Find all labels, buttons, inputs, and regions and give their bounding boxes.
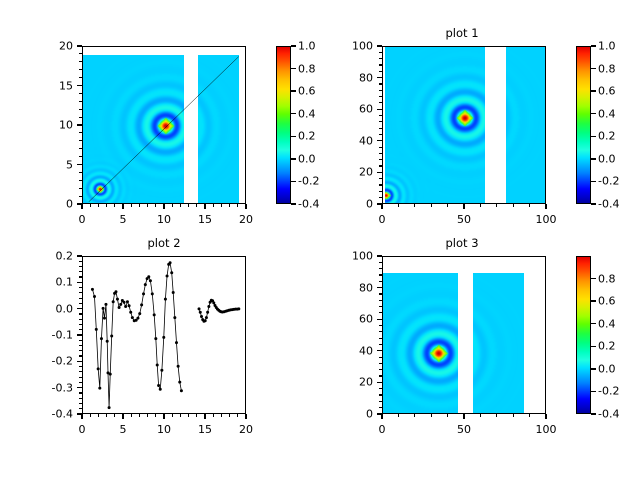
data-point-marker	[170, 271, 173, 274]
axes-data-area-top-right	[383, 47, 545, 203]
colorbar-tick	[291, 45, 296, 46]
x-tick-label: 15	[198, 424, 212, 435]
y-minor-tick	[79, 109, 82, 110]
colorbar-tick-label: 0.0	[598, 363, 616, 374]
x-minor-tick	[513, 204, 514, 207]
y-minor-tick	[379, 147, 382, 148]
data-point-marker	[198, 307, 201, 310]
y-major-tick	[377, 350, 382, 351]
y-minor-tick	[79, 313, 82, 314]
y-tick-label: 40	[359, 345, 373, 356]
y-major-tick	[377, 255, 382, 256]
y-minor-tick	[79, 366, 82, 367]
x-minor-tick	[180, 204, 181, 207]
y-minor-tick	[79, 329, 82, 330]
data-point-marker	[128, 304, 131, 307]
data-point-marker	[98, 387, 101, 390]
data-point-marker	[173, 316, 176, 319]
y-minor-tick	[379, 184, 382, 185]
axes-frame-top-right	[382, 46, 546, 204]
line-path	[92, 263, 181, 408]
colorbar-bottom-right	[576, 256, 591, 414]
y-tick-label: 20	[359, 167, 373, 178]
data-point-marker	[144, 283, 147, 286]
colorbar-tick	[291, 90, 296, 91]
colorbar-tick	[591, 413, 596, 414]
x-tick-label: 20	[239, 424, 253, 435]
colorbar-tick	[591, 300, 596, 301]
x-tick-label: 10	[157, 424, 171, 435]
colorbar-tick	[591, 90, 596, 91]
y-major-tick	[377, 109, 382, 110]
x-major-tick	[381, 204, 382, 209]
colorbar-tick	[591, 136, 596, 137]
y-major-tick	[77, 308, 82, 309]
y-minor-tick	[379, 388, 382, 389]
axes-frame-bottom-left	[82, 256, 246, 414]
heatmap-image-panel	[385, 47, 485, 203]
x-minor-tick	[414, 204, 415, 207]
y-minor-tick	[79, 61, 82, 62]
x-minor-tick	[106, 204, 107, 207]
data-point-marker	[160, 369, 163, 372]
y-minor-tick	[379, 197, 382, 198]
y-minor-tick	[79, 117, 82, 118]
y-minor-tick	[379, 90, 382, 91]
data-point-marker	[93, 295, 96, 298]
x-major-tick	[463, 204, 464, 209]
y-major-tick	[77, 413, 82, 414]
data-point-marker	[131, 316, 134, 319]
colorbar-tick-label: 0.6	[598, 296, 616, 307]
x-minor-tick	[98, 204, 99, 207]
y-tick-label: -0.4	[52, 409, 73, 420]
y-minor-tick	[379, 344, 382, 345]
y-minor-tick	[79, 77, 82, 78]
y-minor-tick	[379, 159, 382, 160]
colorbar-tick-label: -0.2	[298, 176, 319, 187]
y-minor-tick	[379, 394, 382, 395]
y-minor-tick	[79, 303, 82, 304]
y-tick-label: 60	[359, 104, 373, 115]
x-major-tick	[545, 414, 546, 419]
colorbar-top-left	[276, 46, 291, 204]
data-point-marker	[154, 337, 157, 340]
y-minor-tick	[379, 331, 382, 332]
colorbar-tick-label: 0.2	[598, 131, 616, 142]
x-major-tick	[245, 204, 246, 209]
axes-data-area-bottom-right	[383, 257, 545, 413]
x-minor-tick	[414, 414, 415, 417]
x-tick-label: 50	[457, 214, 471, 225]
colorbar-tick	[591, 203, 596, 204]
x-major-tick	[381, 414, 382, 419]
data-point-marker	[147, 275, 150, 278]
y-minor-tick	[379, 165, 382, 166]
y-minor-tick	[379, 281, 382, 282]
y-minor-tick	[379, 401, 382, 402]
x-major-tick	[81, 414, 82, 419]
x-minor-tick	[139, 414, 140, 417]
y-major-tick	[377, 203, 382, 204]
axes-data-area-top-left	[83, 47, 245, 203]
colorbar-tick	[591, 113, 596, 114]
y-minor-tick	[379, 134, 382, 135]
y-minor-tick	[79, 371, 82, 372]
x-minor-tick	[213, 204, 214, 207]
x-tick-label: 0	[79, 214, 86, 225]
x-major-tick	[463, 414, 464, 419]
heatmap-image-panel	[473, 273, 524, 413]
colorbar-tick-label: 0.0	[298, 153, 316, 164]
x-minor-tick	[90, 204, 91, 207]
colorbar-tick	[291, 203, 296, 204]
x-minor-tick	[480, 414, 481, 417]
data-point-marker	[102, 307, 105, 310]
y-major-tick	[77, 361, 82, 362]
y-minor-tick	[379, 312, 382, 313]
y-major-tick	[377, 382, 382, 383]
colorbar-tick	[591, 68, 596, 69]
y-minor-tick	[79, 350, 82, 351]
axes-data-area-bottom-left	[83, 257, 245, 413]
y-minor-tick	[79, 172, 82, 173]
data-point-marker	[156, 363, 159, 366]
y-tick-label: 0.2	[56, 251, 74, 262]
y-major-tick	[77, 387, 82, 388]
data-point-marker	[119, 303, 122, 306]
y-minor-tick	[79, 53, 82, 54]
y-minor-tick	[79, 392, 82, 393]
y-minor-tick	[379, 178, 382, 179]
y-minor-tick	[379, 293, 382, 294]
x-minor-tick	[229, 204, 230, 207]
y-tick-label: 10	[59, 120, 73, 131]
y-tick-label: -0.3	[52, 382, 73, 393]
data-point-marker	[204, 319, 207, 322]
data-point-marker	[100, 337, 103, 340]
data-point-marker	[91, 288, 94, 291]
y-major-tick	[77, 45, 82, 46]
y-minor-tick	[379, 407, 382, 408]
x-tick-label: 50	[457, 424, 471, 435]
x-major-tick	[545, 204, 546, 209]
y-minor-tick	[379, 357, 382, 358]
y-tick-label: 15	[59, 80, 73, 91]
colorbar-tick-label: -0.2	[598, 386, 619, 397]
x-tick-label: 0	[79, 424, 86, 435]
y-minor-tick	[379, 363, 382, 364]
data-point-marker	[140, 303, 143, 306]
y-minor-tick	[379, 338, 382, 339]
data-point-marker	[207, 305, 210, 308]
data-point-marker	[164, 298, 167, 301]
x-minor-tick	[155, 414, 156, 417]
y-minor-tick	[379, 64, 382, 65]
x-minor-tick	[237, 204, 238, 207]
x-minor-tick	[398, 204, 399, 207]
y-minor-tick	[79, 266, 82, 267]
x-minor-tick	[131, 414, 132, 417]
data-point-marker	[166, 274, 169, 277]
y-minor-tick	[379, 325, 382, 326]
data-point-marker	[200, 315, 203, 318]
x-tick-label: 5	[120, 424, 127, 435]
x-minor-tick	[496, 414, 497, 417]
y-minor-tick	[79, 298, 82, 299]
y-major-tick	[377, 140, 382, 141]
y-minor-tick	[79, 140, 82, 141]
data-point-marker	[206, 311, 209, 314]
colorbar-tick-label: 0.0	[598, 153, 616, 164]
axes-frame-top-left	[82, 46, 246, 204]
x-minor-tick	[172, 204, 173, 207]
colorbar-tick-label: 0.2	[598, 341, 616, 352]
x-tick-label: 100	[536, 424, 557, 435]
y-minor-tick	[379, 58, 382, 59]
data-point-marker	[136, 317, 139, 320]
y-major-tick	[77, 124, 82, 125]
x-major-tick	[163, 204, 164, 209]
y-major-tick	[77, 282, 82, 283]
colorbar-tick	[591, 368, 596, 369]
y-tick-label: 0	[366, 199, 373, 210]
axes-frame-bottom-right	[382, 256, 546, 414]
y-major-tick	[77, 255, 82, 256]
colorbar-tick	[591, 45, 596, 46]
x-minor-tick	[147, 204, 148, 207]
y-minor-tick	[79, 93, 82, 94]
x-minor-tick	[196, 204, 197, 207]
colorbar-tick	[591, 181, 596, 182]
data-point-marker	[151, 292, 154, 295]
data-point-marker	[116, 298, 119, 301]
y-minor-tick	[79, 148, 82, 149]
colorbar-tick-label: 0.8	[298, 63, 316, 74]
y-major-tick	[377, 45, 382, 46]
x-minor-tick	[131, 204, 132, 207]
y-minor-tick	[79, 180, 82, 181]
colorbar-tick	[291, 158, 296, 159]
title-plot-3: plot 3	[445, 238, 478, 250]
data-point-marker	[175, 341, 178, 344]
y-minor-tick	[379, 128, 382, 129]
colorbar-tick-label: -0.4	[598, 199, 619, 210]
y-minor-tick	[79, 345, 82, 346]
colorbar-tick-label: 0.4	[598, 318, 616, 329]
y-minor-tick	[79, 355, 82, 356]
x-minor-tick	[398, 414, 399, 417]
x-minor-tick	[155, 204, 156, 207]
colorbar-tick-label: 0.4	[598, 108, 616, 119]
colorbar-tick-label: 0.8	[598, 63, 616, 74]
heatmap-image-panel	[506, 47, 545, 203]
x-tick-label: 10	[157, 214, 171, 225]
x-minor-tick	[529, 204, 530, 207]
colorbar-tick-label: 1.0	[598, 41, 616, 52]
data-point-marker	[124, 305, 127, 308]
x-minor-tick	[513, 414, 514, 417]
data-point-marker	[95, 328, 98, 331]
x-tick-label: 5	[120, 214, 127, 225]
x-minor-tick	[172, 414, 173, 417]
colorbar-tick-label: 0.4	[298, 108, 316, 119]
data-point-marker	[159, 388, 162, 391]
y-major-tick	[77, 85, 82, 86]
y-tick-label: 80	[359, 72, 373, 83]
colorbar-tick	[591, 323, 596, 324]
x-minor-tick	[139, 204, 140, 207]
data-point-marker	[162, 336, 165, 339]
data-point-marker	[178, 381, 181, 384]
y-tick-label: 0	[66, 199, 73, 210]
y-tick-label: 0.0	[56, 303, 74, 314]
y-minor-tick	[79, 132, 82, 133]
y-minor-tick	[379, 191, 382, 192]
colorbar-tick-label: 0.6	[298, 86, 316, 97]
y-minor-tick	[379, 274, 382, 275]
x-major-tick	[245, 414, 246, 419]
x-tick-label: 100	[536, 214, 557, 225]
y-tick-label: 20	[59, 41, 73, 52]
data-point-marker	[123, 301, 126, 304]
y-tick-label: 0.1	[56, 277, 74, 288]
data-point-marker	[149, 279, 152, 282]
x-tick-label: 0	[379, 214, 386, 225]
x-major-tick	[204, 204, 205, 209]
x-tick-label: 0	[379, 424, 386, 435]
colorbar-tick-label: 0.6	[598, 86, 616, 97]
colorbar-tick	[591, 346, 596, 347]
y-minor-tick	[79, 101, 82, 102]
data-point-marker	[180, 389, 183, 392]
y-minor-tick	[379, 52, 382, 53]
y-minor-tick	[379, 268, 382, 269]
y-tick-label: 5	[66, 159, 73, 170]
data-point-marker	[114, 290, 117, 293]
data-point-marker	[126, 300, 129, 303]
x-tick-label: 20	[239, 214, 253, 225]
y-minor-tick	[79, 319, 82, 320]
y-tick-label: 0	[366, 409, 373, 420]
x-tick-label: 15	[198, 214, 212, 225]
data-point-marker	[110, 335, 113, 338]
colorbar-tick-label: 0.2	[298, 131, 316, 142]
x-minor-tick	[180, 414, 181, 417]
y-minor-tick	[79, 377, 82, 378]
x-minor-tick	[188, 414, 189, 417]
data-point-marker	[103, 317, 106, 320]
y-minor-tick	[379, 83, 382, 84]
x-minor-tick	[213, 414, 214, 417]
x-minor-tick	[106, 414, 107, 417]
y-tick-label: 80	[359, 282, 373, 293]
x-minor-tick	[221, 204, 222, 207]
y-minor-tick	[79, 271, 82, 272]
y-tick-label: 100	[352, 251, 373, 262]
figure-canvas: 0510152005101520 -0.4-0.20.00.20.40.60.8…	[0, 0, 640, 480]
colorbar-tick	[591, 158, 596, 159]
y-tick-label: -0.2	[52, 356, 73, 367]
y-minor-tick	[79, 196, 82, 197]
y-minor-tick	[379, 369, 382, 370]
y-minor-tick	[79, 287, 82, 288]
x-minor-tick	[431, 414, 432, 417]
x-minor-tick	[196, 414, 197, 417]
x-major-tick	[122, 414, 123, 419]
x-minor-tick	[529, 414, 530, 417]
x-minor-tick	[98, 414, 99, 417]
y-major-tick	[377, 287, 382, 288]
x-minor-tick	[90, 414, 91, 417]
data-point-marker	[109, 373, 112, 376]
x-major-tick	[204, 414, 205, 419]
y-major-tick	[377, 172, 382, 173]
y-minor-tick	[379, 121, 382, 122]
data-point-marker	[177, 365, 180, 368]
colorbar-tick	[291, 181, 296, 182]
y-major-tick	[77, 203, 82, 204]
colorbar-tick	[591, 391, 596, 392]
colorbar-tick-label: -0.4	[598, 409, 619, 420]
y-minor-tick	[379, 300, 382, 301]
data-point-marker	[237, 307, 240, 310]
x-major-tick	[81, 204, 82, 209]
line-series-plot-2	[83, 257, 245, 413]
colorbar-top-right	[576, 46, 591, 204]
data-point-marker	[112, 300, 115, 303]
x-minor-tick	[496, 204, 497, 207]
y-minor-tick	[79, 276, 82, 277]
data-point-marker	[169, 261, 172, 264]
data-point-marker	[172, 291, 175, 294]
colorbar-tick	[291, 113, 296, 114]
y-minor-tick	[79, 324, 82, 325]
data-point-marker	[97, 367, 100, 370]
x-minor-tick	[114, 414, 115, 417]
y-minor-tick	[79, 261, 82, 262]
title-plot-2: plot 2	[147, 238, 180, 250]
y-minor-tick	[379, 375, 382, 376]
colorbar-tick	[291, 68, 296, 69]
title-plot-1: plot 1	[445, 28, 478, 40]
y-minor-tick	[379, 306, 382, 307]
y-tick-label: 40	[359, 135, 373, 146]
colorbar-tick	[291, 136, 296, 137]
data-point-marker	[142, 292, 145, 295]
y-major-tick	[377, 413, 382, 414]
y-minor-tick	[79, 188, 82, 189]
x-minor-tick	[447, 204, 448, 207]
x-minor-tick	[188, 204, 189, 207]
y-minor-tick	[79, 156, 82, 157]
x-minor-tick	[237, 414, 238, 417]
y-minor-tick	[79, 398, 82, 399]
data-point-marker	[108, 406, 111, 409]
y-minor-tick	[379, 153, 382, 154]
colorbar-tick-label: 1.0	[298, 41, 316, 52]
y-minor-tick	[79, 340, 82, 341]
x-minor-tick	[221, 414, 222, 417]
data-point-marker	[104, 303, 107, 306]
y-major-tick	[377, 319, 382, 320]
y-minor-tick	[379, 115, 382, 116]
x-major-tick	[163, 414, 164, 419]
y-major-tick	[77, 334, 82, 335]
data-point-marker	[199, 311, 202, 314]
data-point-marker	[118, 306, 121, 309]
x-minor-tick	[480, 204, 481, 207]
